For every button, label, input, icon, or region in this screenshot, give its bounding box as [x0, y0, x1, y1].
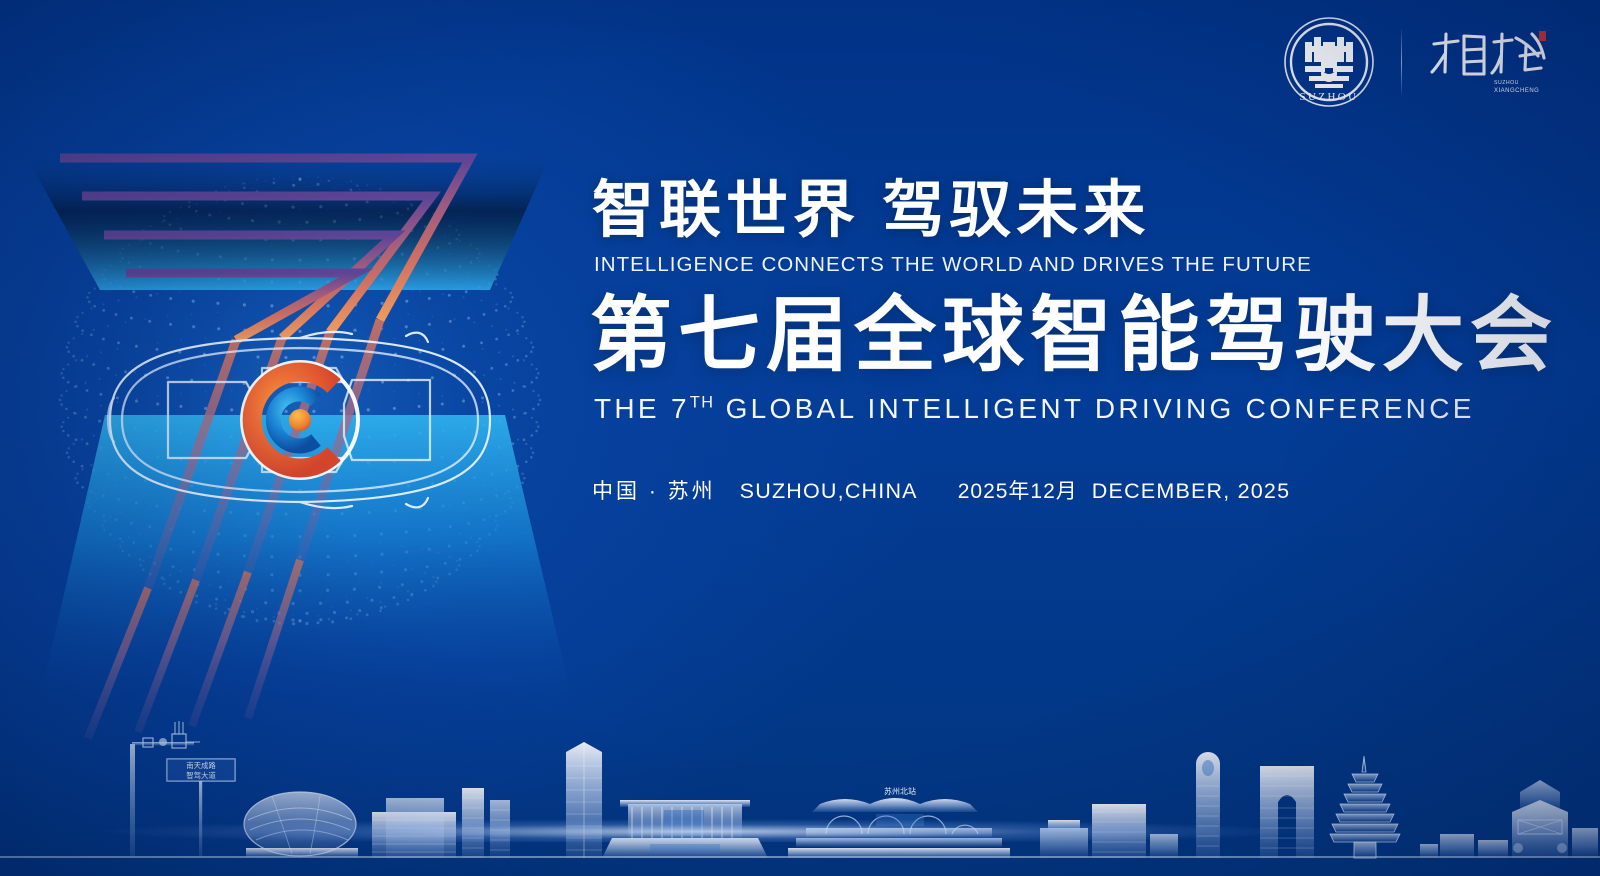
date-chinese: 2025年12月 — [958, 475, 1078, 505]
suzhou-north-railway-station: 苏州北站 — [788, 786, 1010, 858]
slogan-chinese: 智联世界 驾驭未来 — [592, 178, 1552, 245]
title-en-suffix: GLOBAL INTELLIGENT DRIVING CONFERENCE — [715, 393, 1475, 424]
conference-title-english: THE 7TH GLOBAL INTELLIGENT DRIVING CONFE… — [594, 393, 1552, 425]
conference-title-chinese: 第七届全球智能驾驶大会 — [590, 291, 1552, 381]
sign-line-1: 南天成路 — [186, 761, 216, 770]
dome-stadium — [244, 792, 358, 857]
mid-rise-office-block — [372, 798, 456, 858]
location-english: SUZHOU,CHINA — [740, 479, 918, 504]
title-en-ordinal: TH — [690, 394, 715, 412]
logo-pinyin-line1: SUZHOU — [1494, 80, 1519, 86]
tall-tower — [566, 742, 602, 858]
station-label: 苏州北站 — [884, 786, 916, 796]
logo-pinyin-line2: XIANGCHENG — [1494, 88, 1539, 94]
ruiguang-pagoda — [1330, 756, 1400, 858]
artwork-svg — [0, 0, 620, 790]
content-block: 智联世界 驾驭未来 INTELLIGENCE CONNECTS THE WORL… — [592, 178, 1552, 505]
temple-complex — [1420, 780, 1598, 858]
date-english: DECEMBER, 2025 — [1092, 479, 1290, 504]
emblem-caption: SUZHOU — [1299, 91, 1358, 103]
slogan-english: INTELLIGENCE CONNECTS THE WORLD AND DRIV… — [594, 253, 1552, 277]
riverside-block — [1040, 804, 1178, 858]
civic-hall — [602, 800, 768, 858]
city-skyline: 南天成路 智驾大道 — [0, 716, 1600, 876]
ground-line — [0, 856, 1600, 858]
event-meta: 中国 · 苏州 SUZHOU,CHINA 2025年12月 DECEMBER, … — [592, 475, 1552, 505]
twin-towers — [462, 788, 510, 858]
logo-divider — [1401, 29, 1402, 95]
logo-group: SUZHOU SUZHOU — [1283, 14, 1548, 110]
street-name-sign: 南天成路 智驾大道 — [167, 759, 235, 856]
gate-of-the-orient — [1260, 766, 1314, 858]
hero-artwork — [0, 0, 620, 780]
top-plane — [20, 145, 555, 290]
observation-tower — [1196, 752, 1220, 858]
title-en-prefix: THE 7 — [594, 393, 690, 424]
xiangcheng-calligraphy-logo-icon: SUZHOU XIANGCHENG — [1428, 26, 1548, 98]
conference-banner: 智联世界 驾驭未来 INTELLIGENCE CONNECTS THE WORL… — [0, 0, 1600, 876]
location-chinese: 中国 · 苏州 — [592, 475, 716, 505]
sign-line-2: 智驾大道 — [186, 771, 216, 780]
skyline-svg: 南天成路 智驾大道 — [0, 716, 1600, 876]
suzhou-city-emblem-icon: SUZHOU — [1283, 16, 1375, 108]
smart-traffic-pole — [130, 721, 200, 856]
seal-accent — [1539, 31, 1546, 41]
